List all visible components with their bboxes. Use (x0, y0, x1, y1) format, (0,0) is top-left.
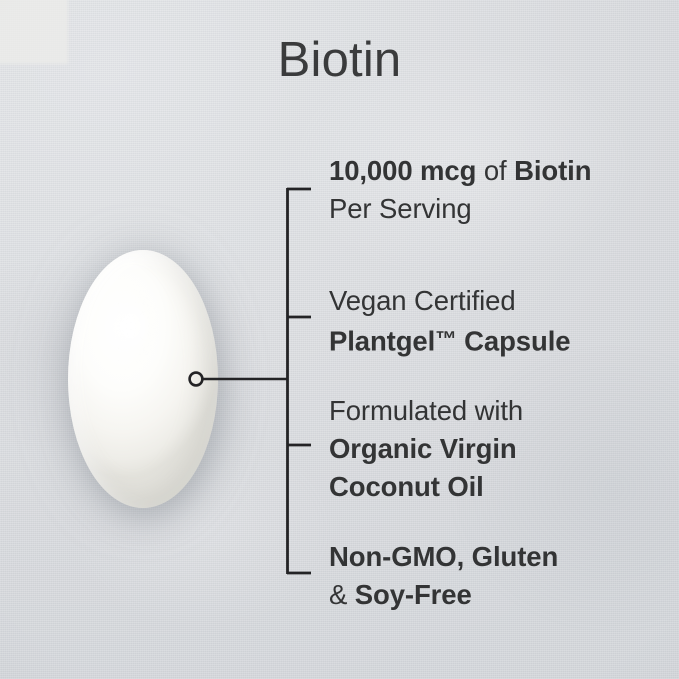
callout-text: Biotin (514, 155, 591, 186)
callout-text: Soy-Free (355, 579, 472, 610)
trademark-symbol: ™ (435, 327, 456, 351)
callout-text: 10,000 mcg (329, 155, 476, 186)
callout-text: Plantgel (329, 326, 435, 357)
callout-text: Organic Virgin (329, 433, 517, 464)
callout-line: Vegan Certified (329, 282, 570, 320)
page-title: Biotin (0, 36, 679, 85)
callout-text: Capsule (457, 326, 571, 357)
callout-line: Formulated with (329, 392, 523, 430)
callout-text: Per Serving (329, 193, 472, 224)
callout-line: 10,000 mcg of Biotin (329, 152, 591, 190)
callout-dosage: 10,000 mcg of Biotin Per Serving (329, 152, 591, 228)
callout-line: Non-GMO, Gluten (329, 538, 558, 576)
callout-line: Organic Virgin (329, 430, 523, 468)
callout-free-from: Non-GMO, Gluten & Soy-Free (329, 538, 558, 614)
callout-capsule-type: Vegan Certified Plantgel™ Capsule (329, 282, 570, 361)
capsule-body (68, 250, 218, 508)
callout-line: Per Serving (329, 190, 591, 228)
callout-text: Formulated with (329, 395, 523, 426)
callout-formulation: Formulated with Organic Virgin Coconut O… (329, 392, 523, 506)
capsule-highlight (98, 280, 164, 372)
callout-text: & (329, 579, 355, 610)
callout-line: & Soy-Free (329, 576, 558, 614)
callout-line: Coconut Oil (329, 468, 523, 506)
callout-text: Coconut Oil (329, 471, 484, 502)
callout-text: Non-GMO, Gluten (329, 541, 558, 572)
callout-line: Plantgel™ Capsule (329, 320, 570, 361)
callout-text: Vegan Certified (329, 285, 516, 316)
callout-text: of (476, 155, 514, 186)
capsule-image (62, 244, 224, 516)
product-infographic: Biotin 10,000 mcg of Biotin Per Serving (0, 0, 679, 679)
